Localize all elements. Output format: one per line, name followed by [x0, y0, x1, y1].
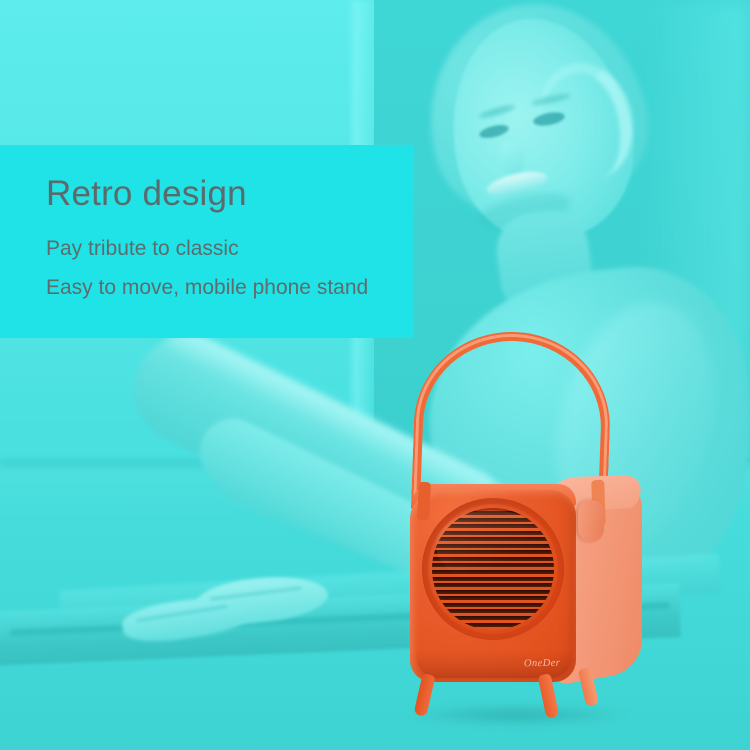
product-floor-shadow [402, 704, 632, 726]
page-title: Retro design [46, 174, 247, 214]
product-control-knob[interactable] [578, 500, 604, 542]
product-image: OneDer [396, 332, 646, 724]
subtitle-line-1: Pay tribute to classic [46, 237, 239, 261]
headline-panel: Retro design Pay tribute to classic Easy… [0, 145, 414, 338]
banner-canvas: Retro design Pay tribute to classic Easy… [0, 0, 750, 750]
subtitle-line-2: Easy to move, mobile phone stand [46, 276, 368, 300]
product-handle-mount-left [417, 482, 431, 521]
product-brand-logo: OneDer [524, 658, 560, 670]
